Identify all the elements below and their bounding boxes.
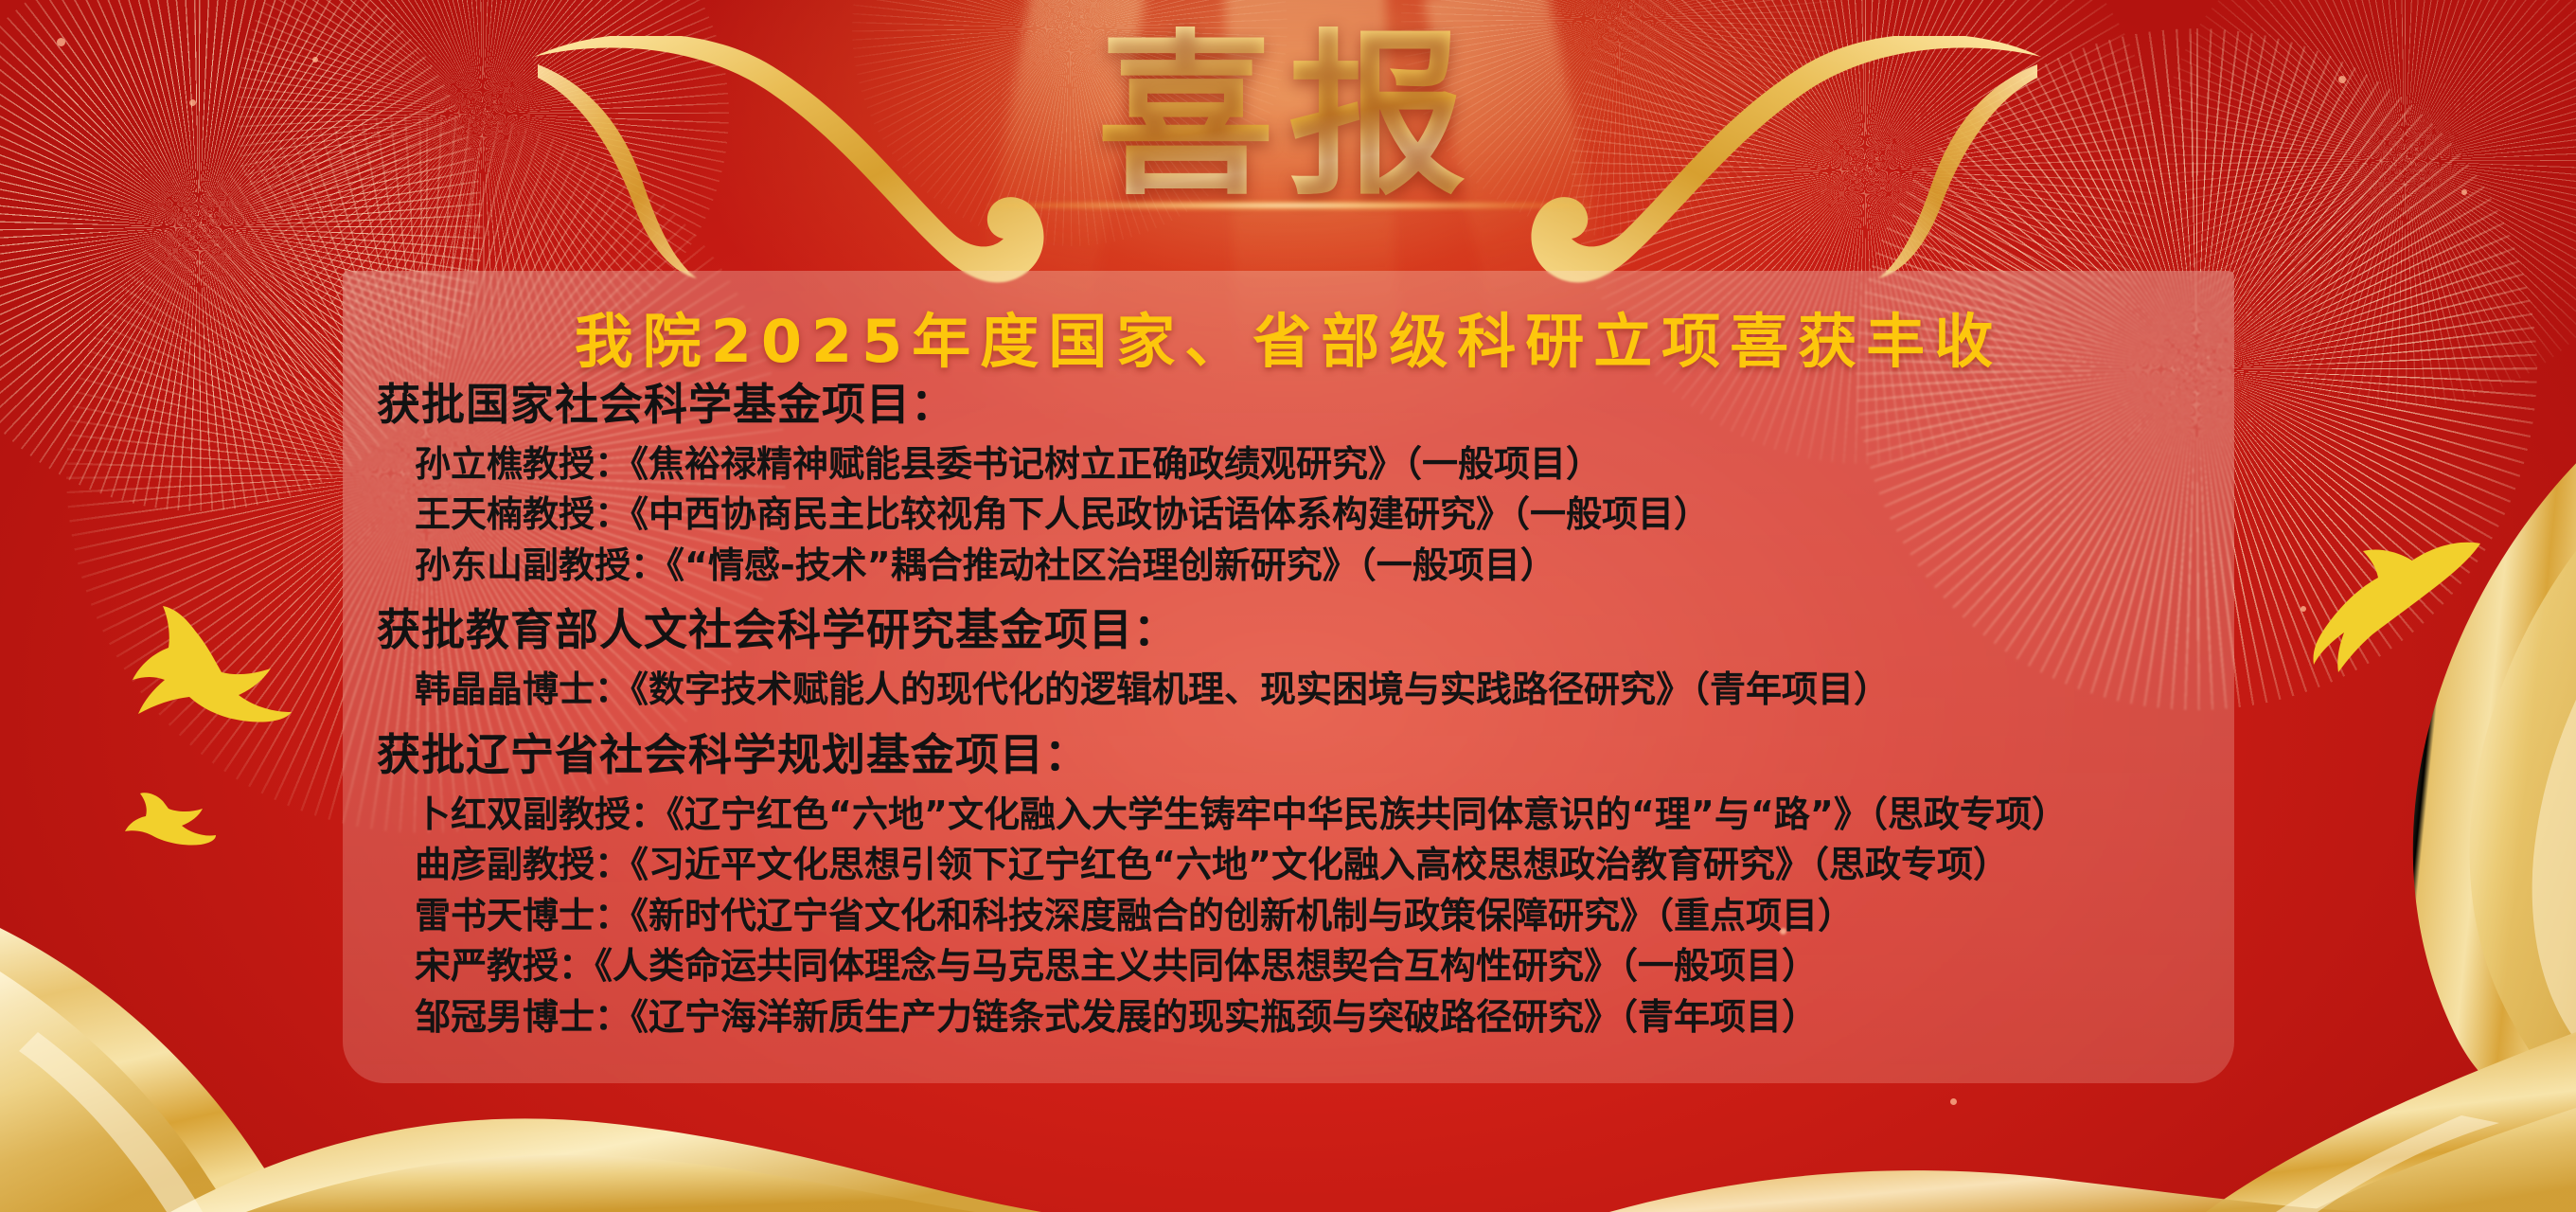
award-entry: 孙立樵教授：《焦裕禄精神赋能县委书记树立正确政绩观研究》（一般项目） bbox=[415, 440, 2280, 489]
header-glow bbox=[986, 201, 1591, 210]
section-heading: 获批教育部人文社会科学研究基金项目： bbox=[377, 602, 2280, 658]
section-liaoning-province: 获批辽宁省社会科学规划基金项目： 卜红双副教授：《辽宁红色“六地”文化融入大学生… bbox=[377, 727, 2280, 1042]
section-heading: 获批国家社会科学基金项目： bbox=[377, 377, 2280, 433]
award-entry: 雷书天博士：《新时代辽宁省文化和科技深度融合的创新机制与政策保障研究》（重点项目… bbox=[415, 892, 2280, 940]
dove-icon-right bbox=[2291, 540, 2480, 696]
award-list: 获批国家社会科学基金项目： 孙立樵教授：《焦裕禄精神赋能县委书记树立正确政绩观研… bbox=[377, 377, 2280, 1046]
gold-ribbon-left-icon bbox=[530, 36, 1136, 292]
section-heading: 获批辽宁省社会科学规划基金项目： bbox=[377, 727, 2280, 783]
sparkle-dot bbox=[1950, 1098, 1957, 1105]
section-national-social-science: 获批国家社会科学基金项目： 孙立樵教授：《焦裕禄精神赋能县委书记树立正确政绩观研… bbox=[377, 377, 2280, 589]
award-entry: 宋严教授：《人类命运共同体理念与马克思主义共同体思想契合互构性研究》（一般项目） bbox=[415, 942, 2280, 990]
award-entry: 王天楠教授：《中西协商民主比较视角下人民政协话语体系构建研究》（一般项目） bbox=[415, 490, 2280, 539]
dove-icon-left-small bbox=[125, 792, 216, 855]
gold-ribbon-right-icon bbox=[1439, 36, 2045, 292]
section-ministry-of-education: 获批教育部人文社会科学研究基金项目： 韩晶晶博士：《数字技术赋能人的现代化的逻辑… bbox=[377, 602, 2280, 713]
award-entry: 韩晶晶博士：《数字技术赋能人的现代化的逻辑机理、现实困境与实践路径研究》（青年项… bbox=[415, 666, 2280, 714]
award-entry: 孙东山副教授：《“情感-技术”耦合推动社区治理创新研究》（一般项目） bbox=[415, 542, 2280, 590]
banner-title: 喜报 bbox=[1097, 27, 1480, 205]
page-title: 我院2025年度国家、省部级科研立项喜获丰收 bbox=[343, 294, 2234, 379]
sparkle-dot bbox=[2301, 606, 2306, 612]
poster-canvas: 喜报 我院2025年度国家、省部级科研立项喜获丰收 获批国家社会科学基金项目： … bbox=[0, 0, 2576, 1212]
dove-icon-left-large bbox=[102, 606, 292, 753]
award-entry: 曲彦副教授：《习近平文化思想引领下辽宁红色“六地”文化融入高校思想政治教育研究》… bbox=[415, 841, 2280, 889]
award-entry: 邹冠男博士：《辽宁海洋新质生产力链条式发展的现实瓶颈与突破路径研究》（青年项目） bbox=[415, 993, 2280, 1042]
poster-header: 喜报 bbox=[0, 0, 2576, 284]
award-entry: 卜红双副教授：《辽宁红色“六地”文化融入大学生铸牢中华民族共同体意识的“理”与“… bbox=[415, 791, 2280, 839]
